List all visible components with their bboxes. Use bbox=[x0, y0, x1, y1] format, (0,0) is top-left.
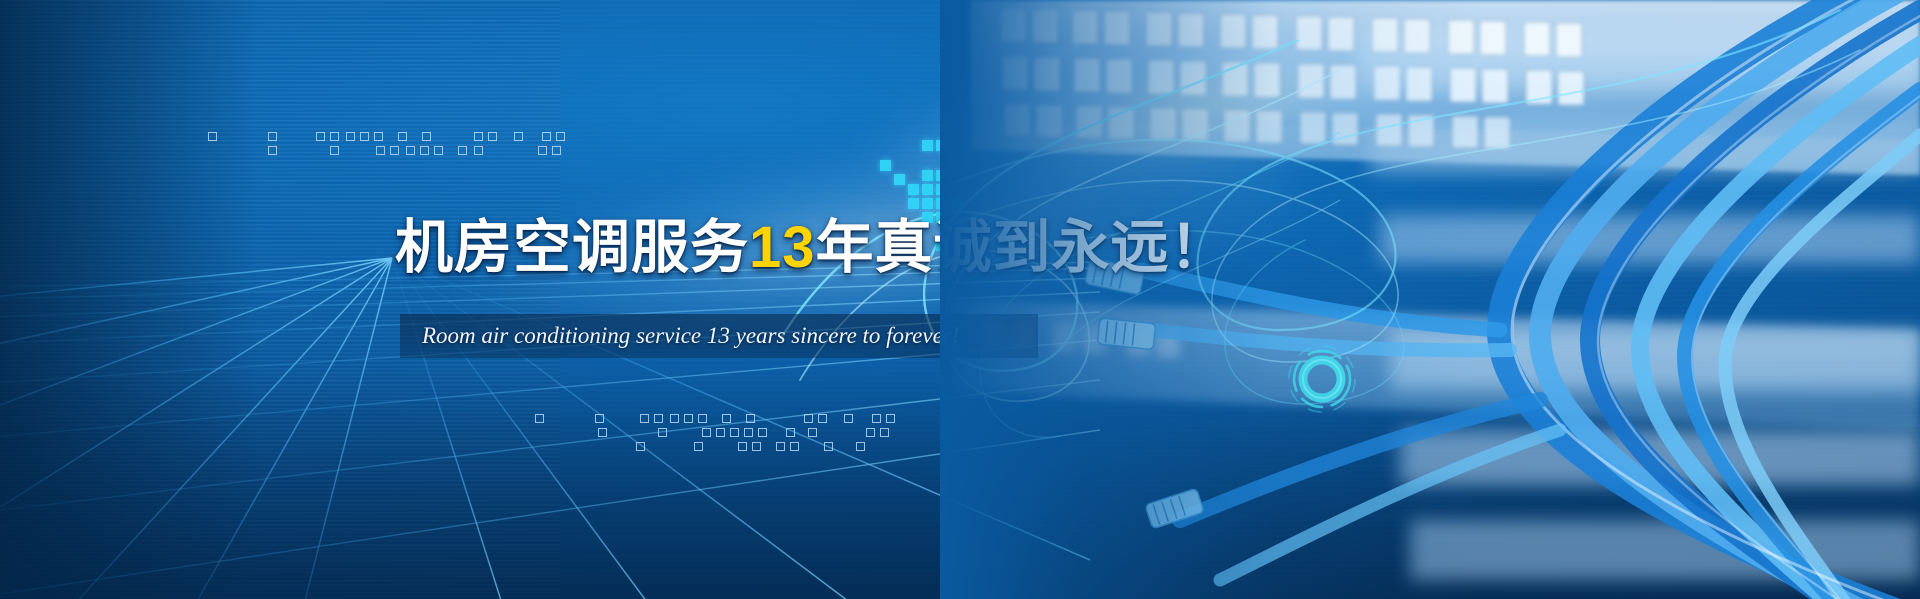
hero-banner: 机房空调服务13年真诚到永远！ Room air conditioning se… bbox=[0, 0, 1920, 599]
subtitle-text: Room air conditioning service 13 years s… bbox=[422, 323, 959, 349]
datacenter-photo bbox=[940, 0, 1920, 599]
headline-prefix: 机房空调服务 bbox=[395, 215, 749, 280]
photo-blue-tint bbox=[940, 0, 1920, 599]
digital-square-dots-bottom bbox=[420, 380, 900, 470]
digital-square-dots-top bbox=[150, 90, 570, 170]
headline-years-number: 13 bbox=[749, 215, 816, 280]
